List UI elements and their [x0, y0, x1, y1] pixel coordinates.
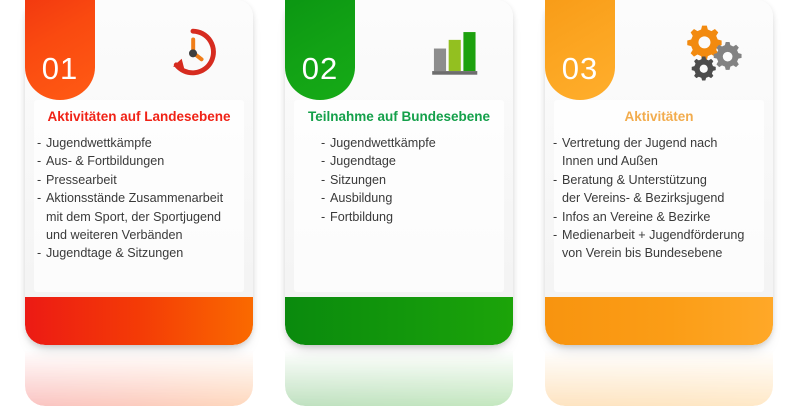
- card-02-title: Teilnahme auf Bundesebene: [291, 110, 507, 125]
- card-01-number: 01: [42, 53, 78, 84]
- list-item: Sitzungen: [321, 171, 537, 189]
- list-item: Jugendwettkämpfe: [37, 134, 253, 152]
- card-02-reflection: [285, 350, 513, 406]
- list-item: Beratung & Unterstützung der Vereins- & …: [553, 171, 773, 208]
- list-item: Infos an Vereine & Bezirke: [553, 208, 773, 226]
- list-item: Pressearbeit: [37, 171, 253, 189]
- card-03-list: Vertretung der Jugend nach Innen und Auß…: [553, 134, 773, 263]
- list-item: Vertretung der Jugend nach Innen und Auß…: [553, 134, 773, 171]
- card-03-title: Aktivitäten: [551, 110, 767, 125]
- list-item: Medienarbeit + Jugendförderung von Verei…: [553, 226, 773, 263]
- card-02-footer-band: [285, 297, 513, 345]
- list-item: Jugendwettkämpfe: [321, 134, 537, 152]
- gears-icon: [667, 12, 759, 92]
- list-item: Ausbildung: [321, 189, 537, 207]
- list-item: Fortbildung: [321, 208, 537, 226]
- list-item: Jugendtage: [321, 152, 537, 170]
- list-item: Aus- & Fortbildungen: [37, 152, 253, 170]
- card-03-number: 03: [562, 53, 598, 84]
- card-03-number-badge: 03: [545, 0, 615, 100]
- card-01-list: Jugendwettkämpfe Aus- & Fortbildungen Pr…: [37, 134, 253, 263]
- card-02[interactable]: 02 Teilnahme auf Bundesebene Jugendwettk…: [285, 0, 513, 345]
- card-01[interactable]: 01 Aktivitäten auf Landesebene Jugendwet…: [25, 0, 253, 345]
- card-02-number-badge: 02: [285, 0, 355, 100]
- card-01-footer-band: [25, 297, 253, 345]
- bar-chart-icon: [407, 12, 499, 92]
- card-03-reflection: [545, 350, 773, 406]
- card-01-number-badge: 01: [25, 0, 95, 100]
- list-item: Jugendtage & Sitzungen: [37, 244, 253, 262]
- card-01-reflection: [25, 350, 253, 406]
- card-03-footer-band: [545, 297, 773, 345]
- card-01-title: Aktivitäten auf Landesebene: [31, 110, 247, 125]
- clock-rewind-icon: [147, 12, 239, 92]
- infographic-board: 01 Aktivitäten auf Landesebene Jugendwet…: [0, 0, 800, 408]
- list-item: Aktionsstände Zusammenarbeit mit dem Spo…: [37, 189, 253, 244]
- card-03[interactable]: 03 Aktivitäten Vertretung der Jugend: [545, 0, 773, 345]
- card-02-number: 02: [302, 53, 338, 84]
- card-02-list: Jugendwettkämpfe Jugendtage Sitzungen Au…: [321, 134, 537, 226]
